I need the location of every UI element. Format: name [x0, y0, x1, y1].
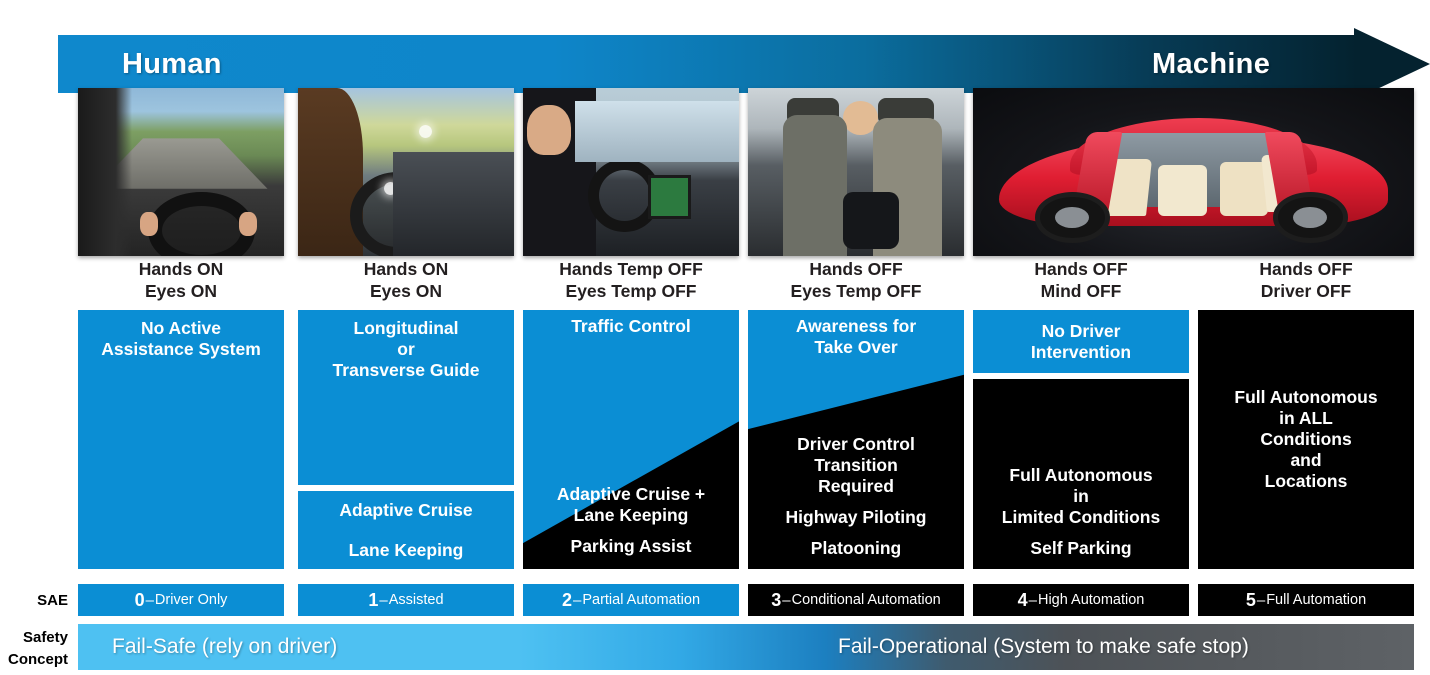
- caption-line-2: Eyes Temp OFF: [523, 280, 739, 302]
- box-text: Full Autonomousin ALLConditionsandLocati…: [1234, 387, 1377, 492]
- box-longitudinal-transverse-guide: LongitudinalorTransverse Guide: [298, 310, 514, 485]
- content-column-2: Traffic Control Adaptive Cruise +Lane Ke…: [523, 310, 739, 569]
- box-full-autonomous-limited: Full AutonomousinLimited ConditionsSelf …: [973, 379, 1189, 569]
- safety-label-line-2: Concept: [0, 649, 68, 671]
- sae-dash: –: [1029, 592, 1037, 609]
- box-adaptive-cruise-lane-keeping: Adaptive CruiseLane Keeping: [298, 491, 514, 569]
- box-text-bottom: Driver ControlTransitionRequiredHighway …: [748, 434, 964, 559]
- box-no-active-assistance: No ActiveAssistance System: [78, 310, 284, 569]
- safety-text-fail-safe: Fail-Safe (rely on driver): [112, 624, 337, 670]
- sae-number: 3: [771, 590, 781, 611]
- caption-level-1: Hands ON Eyes ON: [298, 258, 514, 304]
- sae-dash: –: [573, 592, 581, 609]
- sae-name: Partial Automation: [582, 592, 700, 608]
- sae-name: Driver Only: [155, 592, 228, 608]
- box-text: Full AutonomousinLimited ConditionsSelf …: [973, 465, 1189, 559]
- caption-level-0: Hands ON Eyes ON: [78, 258, 284, 304]
- sae-name: Assisted: [389, 592, 444, 608]
- box-text: No ActiveAssistance System: [78, 310, 284, 360]
- box-text: LongitudinalorTransverse Guide: [298, 310, 514, 381]
- sae-row-label: SAE: [0, 586, 68, 616]
- diagonal-split-box: Awareness forTake Over Driver ControlTra…: [748, 310, 964, 569]
- box-text-top: Awareness forTake Over: [748, 316, 964, 358]
- caption-line-2: Eyes ON: [298, 280, 514, 302]
- caption-level-3: Hands OFF Eyes Temp OFF: [748, 258, 964, 304]
- sae-name: Full Automation: [1266, 592, 1366, 608]
- sae-number: 0: [135, 590, 145, 611]
- caption-line-2: Eyes ON: [78, 280, 284, 302]
- photo-driver-hands-off-tablet: [523, 88, 739, 256]
- photo-passenger-in-rear-seat: [748, 88, 964, 256]
- sae-dash: –: [379, 592, 387, 609]
- sae-dash: –: [146, 592, 154, 609]
- safety-concept-row-label: Safety Concept: [0, 624, 68, 672]
- caption-line-2: Eyes Temp OFF: [748, 280, 964, 302]
- content-column-1: LongitudinalorTransverse Guide Adaptive …: [298, 310, 514, 569]
- caption-line-1: Hands OFF: [1198, 258, 1414, 280]
- content-column-3: Awareness forTake Over Driver ControlTra…: [748, 310, 964, 569]
- box-text-top: Traffic Control: [523, 316, 739, 337]
- sae-level-2[interactable]: 2–Partial Automation: [523, 584, 739, 616]
- sae-name: Conditional Automation: [792, 592, 941, 608]
- sae-level-1[interactable]: 1–Assisted: [298, 584, 514, 616]
- arrow-label-machine: Machine: [1152, 35, 1270, 93]
- sae-level-3[interactable]: 3–Conditional Automation: [748, 584, 964, 616]
- diagonal-split-box: Traffic Control Adaptive Cruise +Lane Ke…: [523, 310, 739, 569]
- caption-line-2: Driver OFF: [1198, 280, 1414, 302]
- box-no-driver-intervention: No DriverIntervention: [973, 310, 1189, 373]
- box-text: Adaptive CruiseLane Keeping: [339, 495, 472, 565]
- sae-dash: –: [782, 592, 790, 609]
- autonomy-levels-diagram: Human Machine H: [0, 0, 1430, 675]
- sae-number: 1: [368, 590, 378, 611]
- safety-text-fail-operational: Fail-Operational (System to make safe st…: [838, 624, 1249, 670]
- caption-line-1: Hands ON: [298, 258, 514, 280]
- safety-concept-bar: Fail-Safe (rely on driver) Fail-Operatio…: [78, 624, 1414, 670]
- sae-number: 2: [562, 590, 572, 611]
- sae-dash: –: [1257, 592, 1265, 609]
- caption-line-1: Hands OFF: [748, 258, 964, 280]
- photo-female-driver-hands-on-wheel: [298, 88, 514, 256]
- content-column-5: Full Autonomousin ALLConditionsandLocati…: [1198, 310, 1414, 569]
- box-full-autonomous-all: Full Autonomousin ALLConditionsandLocati…: [1198, 310, 1414, 569]
- sae-number: 5: [1246, 590, 1256, 611]
- content-column-0: No ActiveAssistance System: [78, 310, 284, 569]
- content-column-4: No DriverIntervention Full AutonomousinL…: [973, 310, 1189, 569]
- sae-level-5[interactable]: 5–Full Automation: [1198, 584, 1414, 616]
- arrow-label-human: Human: [122, 35, 222, 93]
- caption-level-2: Hands Temp OFF Eyes Temp OFF: [523, 258, 739, 304]
- box-text-bottom: Adaptive Cruise +Lane KeepingParking Ass…: [523, 484, 739, 557]
- sae-name: High Automation: [1038, 592, 1144, 608]
- box-text: No DriverIntervention: [1031, 321, 1131, 363]
- photo-red-autonomous-concept-car: [973, 88, 1414, 256]
- caption-line-2: Mind OFF: [973, 280, 1189, 302]
- safety-label-line-1: Safety: [0, 627, 68, 649]
- sae-level-4[interactable]: 4–High Automation: [973, 584, 1189, 616]
- caption-level-5: Hands OFF Driver OFF: [1198, 258, 1414, 304]
- photo-windshield-view-hands-on-wheel: [78, 88, 284, 256]
- sae-level-0[interactable]: 0–Driver Only: [78, 584, 284, 616]
- caption-line-1: Hands OFF: [973, 258, 1189, 280]
- sae-number: 4: [1018, 590, 1028, 611]
- caption-level-4: Hands OFF Mind OFF: [973, 258, 1189, 304]
- caption-line-1: Hands Temp OFF: [523, 258, 739, 280]
- caption-line-1: Hands ON: [78, 258, 284, 280]
